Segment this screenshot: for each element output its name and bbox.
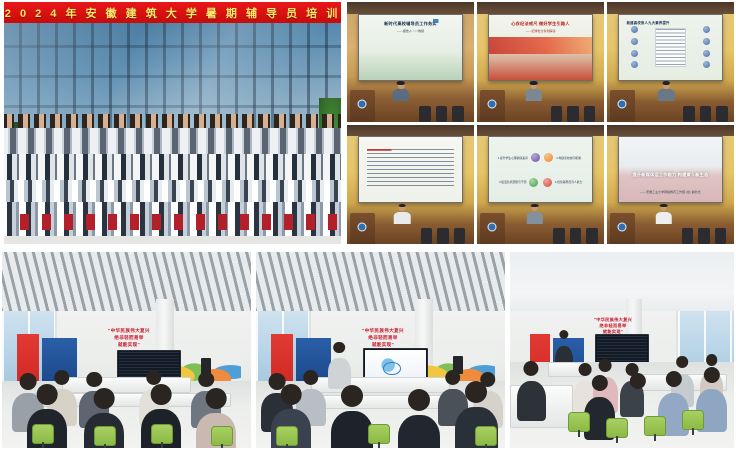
event-banner-text: 2 0 2 4 年 安 徽 建 筑 大 学 暑 期 辅 导 员 培 训	[5, 5, 340, 21]
hall-ceiling	[477, 125, 604, 137]
wall-slogan-text: "中华民族伟大复兴 绝非轻而易举 就能实现"	[67, 328, 192, 348]
podium	[610, 90, 635, 121]
presenter	[658, 82, 675, 101]
node-dot	[703, 50, 710, 57]
circle-dot-purple-icon	[531, 153, 540, 162]
photo-collage: 2 0 2 4 年 安 徽 建 筑 大 学 暑 期 辅 导 员 培 训 新时代高…	[0, 0, 736, 450]
slide-content: 心存纪法戒尺 做好学生引路人 ——纪律处分条例解读	[489, 15, 591, 80]
lecture-photo-3: 新建高校育人九大素养提升	[607, 2, 734, 122]
presenter-head	[398, 82, 405, 89]
presenter-body	[394, 212, 411, 224]
presenter-head	[531, 205, 538, 212]
projection-screen: 新建高校育人九大素养提升	[618, 14, 722, 81]
node-column-left	[625, 24, 645, 71]
lecture-photo-grid: 新时代高校辅导员工作务实 ——报告人 ○○○教授	[347, 2, 734, 244]
podium	[350, 90, 375, 121]
node-dot	[703, 26, 710, 33]
chair	[700, 106, 711, 122]
attendee-foreground	[331, 411, 373, 448]
projection-screen: 学生管理规定条文解读	[358, 136, 462, 203]
hall-ceiling	[607, 2, 734, 14]
university-seal-icon	[618, 100, 627, 109]
university-seal-icon	[488, 100, 497, 109]
slide-content: 学生管理规定条文解读	[359, 137, 461, 202]
chair	[586, 228, 597, 244]
projection-screen: 新时代高校辅导员工作务实 ——报告人 ○○○教授	[358, 14, 462, 81]
presenter-head	[399, 205, 406, 212]
presenter-head	[660, 205, 667, 212]
lecture-photo-2: 心存纪法戒尺 做好学生引路人 ——纪律处分条例解读	[477, 2, 604, 122]
chair	[698, 228, 709, 244]
slide-content: 1.提升学生心理健康素养 2.构建家校协同机制 3.加强危机预警与干预	[489, 137, 591, 202]
lecture-photo-5: 1.提升学生心理健康素养 2.构建家校协同机制 3.加强危机预警与干预	[477, 125, 604, 245]
green-chair	[211, 426, 233, 446]
slide-subtitle: ——纪律处分条例解读	[497, 29, 585, 33]
circle-label: 3.加强危机预警与干预	[499, 180, 527, 184]
slide-subtitle: ——报告人 ○○○教授	[367, 29, 455, 33]
presenter-body	[525, 89, 542, 101]
hall-ceiling	[607, 125, 734, 137]
louvered-ceiling	[2, 252, 251, 319]
attendee	[517, 381, 546, 420]
podium	[350, 213, 375, 244]
presenter	[655, 205, 672, 224]
chair	[551, 106, 562, 122]
screen-content	[365, 350, 426, 379]
projection-screen: 1.提升学生心理健康素养 2.构建家校协同机制 3.加强危机预警与干预	[488, 136, 592, 203]
circle-label: 1.提升学生心理健康素养	[498, 156, 528, 160]
slide-title: 提升新媒体运工作能力 构建育人新生态	[627, 172, 715, 178]
slide-content: 新建高校育人九大素养提升	[619, 15, 721, 80]
red-stool-row	[10, 214, 340, 230]
presenter	[527, 205, 544, 224]
presenter-head	[530, 82, 537, 89]
four-circle-diagram: 1.提升学生心理健康素养 2.构建家校协同机制 3.加强危机预警与干预	[498, 147, 584, 194]
panel-seam-horizontal	[0, 245, 736, 252]
chair	[683, 106, 694, 122]
green-chair	[32, 424, 54, 444]
chair	[436, 106, 447, 122]
presenter-head	[663, 82, 670, 89]
circle-dot-green-icon	[529, 178, 538, 187]
green-chair	[475, 426, 497, 446]
slide-content: 新时代高校辅导员工作务实 ——报告人 ○○○教授	[359, 15, 461, 80]
node-dot	[631, 38, 638, 45]
slide-body-text	[367, 149, 455, 189]
red-ribbon-graphic	[489, 37, 591, 54]
chair	[553, 228, 564, 244]
lecture-photo-4: 学生管理规定条文解读	[347, 125, 474, 245]
node-dot	[703, 38, 710, 45]
university-logo-icon	[433, 19, 455, 24]
circle-label: 2.构建家校协同机制	[556, 156, 581, 160]
hall-ceiling	[477, 2, 604, 14]
green-chair	[644, 416, 666, 436]
presenter-body	[527, 212, 544, 224]
chair	[419, 106, 430, 122]
group-photo: 2 0 2 4 年 安 徽 建 筑 大 学 暑 期 辅 导 员 培 训	[4, 2, 341, 244]
circle-item-1: 1.提升学生心理健康素养	[498, 153, 540, 162]
workshop-photo-3: "中华民族伟大复兴 绝非轻而易举 就能实现"	[510, 252, 734, 448]
circle-item-3: 3.加强危机预警与干预	[499, 178, 539, 187]
podium	[480, 90, 505, 121]
green-chair	[568, 412, 590, 432]
lecture-photo-1: 新时代高校辅导员工作务实 ——报告人 ○○○教授	[347, 2, 474, 122]
hall-ceiling	[347, 125, 474, 137]
green-chair	[94, 426, 116, 446]
circle-item-4: 4.优化辅导员育人能力	[543, 178, 583, 187]
node-dot	[631, 26, 638, 33]
workshop-photo-1: "中华民族伟大复兴 绝非轻而易举 就能实现"	[2, 252, 251, 448]
green-chair	[368, 424, 390, 444]
attendee-foreground	[398, 415, 440, 448]
chair	[454, 228, 465, 244]
green-chair	[151, 424, 173, 444]
green-chair	[606, 418, 628, 438]
node-dot	[703, 61, 710, 68]
ceiling	[510, 252, 734, 319]
slide-content: 提升新媒体运工作能力 构建育人新生态 ——安徽工业大学网络教育工作部 (处) 副…	[619, 137, 721, 202]
chair	[716, 106, 727, 122]
slide-title: 心存纪法戒尺 做好学生引路人	[497, 21, 585, 27]
louvered-ceiling	[256, 252, 505, 319]
presenter-standing	[328, 358, 350, 389]
event-banner: 2 0 2 4 年 安 徽 建 筑 大 学 暑 期 辅 导 员 培 训	[4, 2, 341, 23]
node-dot	[631, 61, 638, 68]
presenter-body	[658, 89, 675, 101]
presenter	[393, 82, 410, 101]
chair	[421, 228, 432, 244]
slide-subtitle: ——安徽工业大学网络教育工作部 (处) 副处长	[627, 190, 715, 194]
university-seal-icon	[358, 222, 367, 231]
presenter-body	[393, 89, 410, 101]
circle-item-2: 2.构建家校协同机制	[544, 153, 581, 162]
green-chair	[276, 426, 298, 446]
presenter	[525, 82, 542, 101]
university-seal-icon	[618, 222, 627, 231]
university-seal-icon	[488, 222, 497, 231]
seminar-table	[62, 377, 191, 393]
university-seal-icon	[358, 100, 367, 109]
hall-ceiling	[347, 2, 474, 14]
display-screen	[363, 348, 428, 381]
presenter	[394, 205, 411, 224]
projection-screen: 心存纪法戒尺 做好学生引路人 ——纪律处分条例解读	[488, 14, 592, 81]
wall-slogan-text: "中华民族伟大复兴 绝非轻而易举 就能实现"	[564, 317, 663, 335]
podium	[480, 213, 505, 244]
lecture-photo-6: 提升新媒体运工作能力 构建育人新生态 ——安徽工业大学网络教育工作部 (处) 副…	[607, 125, 734, 245]
presenter-body	[655, 212, 672, 224]
projection-screen: 提升新媒体运工作能力 构建育人新生态 ——安徽工业大学网络教育工作部 (处) 副…	[618, 136, 722, 203]
chair	[682, 228, 693, 244]
chair	[567, 106, 578, 122]
chair	[437, 228, 448, 244]
center-text-card	[655, 28, 686, 67]
workshop-photo-2: "中华民族伟大复兴 绝非轻而易举 就能实现"	[256, 252, 505, 448]
circle-dot-orange-icon	[544, 153, 553, 162]
panel-seam-vertical	[341, 0, 347, 245]
node-dot	[631, 50, 638, 57]
circle-label: 4.优化辅导员育人能力	[555, 180, 583, 184]
circle-dot-red-icon	[543, 178, 552, 187]
chair	[715, 228, 726, 244]
chair	[452, 106, 463, 122]
node-column-right	[696, 24, 716, 71]
chair	[584, 106, 595, 122]
green-chair	[682, 410, 704, 430]
podium	[610, 213, 635, 244]
chair	[570, 228, 581, 244]
